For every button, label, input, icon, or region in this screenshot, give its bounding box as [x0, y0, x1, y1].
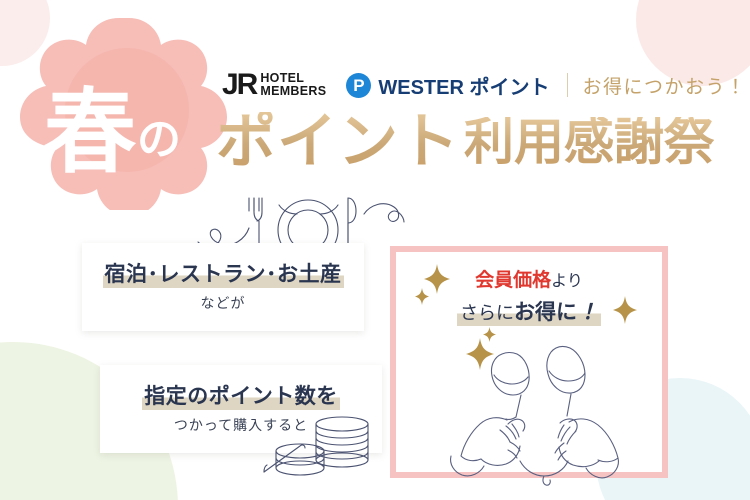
- panel-line-2-exclamation: ！: [577, 300, 598, 324]
- divider: [567, 73, 568, 97]
- wester-point-label: WESTER ポイント: [378, 71, 549, 100]
- member-price-highlight: 会員価格: [475, 269, 551, 291]
- member-price-suffix: より: [551, 271, 583, 290]
- page-title: ポイント 利用感謝祭: [216, 104, 750, 180]
- panel-line-1: 会員価格より: [396, 266, 662, 295]
- logo-row: JR HOTEL MEMBERS P WESTER ポイント お得につかおう！: [222, 64, 747, 106]
- panel-line-2-bold: お得に: [514, 300, 577, 324]
- tagline-text: お得につかおう！: [582, 72, 746, 99]
- panel-line-2: さらにお得に！: [457, 299, 601, 326]
- sakura-blossom-icon: [20, 10, 230, 210]
- member-price-panel: 会員価格より さらにお得に！: [390, 246, 668, 478]
- info-card-stay-restaurant: 宿泊･レストラン･お土産 などが: [82, 243, 364, 331]
- panel-text-block: 会員価格より さらにお得に！: [396, 266, 662, 326]
- point-badge-icon: P: [346, 73, 371, 98]
- jr-sub-wordmark: HOTEL MEMBERS: [260, 72, 326, 98]
- card-1-sub-text: などが: [201, 293, 246, 313]
- wester-point-logo: P WESTER ポイント: [346, 71, 549, 100]
- headline-main: ポイント: [216, 112, 460, 172]
- card-2-main-text: 指定のポイント数を: [142, 383, 340, 409]
- jr-sub-line2: MEMBERS: [260, 85, 326, 98]
- panel-line-2-thin: さらに: [460, 303, 514, 324]
- jr-hotel-members-logo: JR HOTEL MEMBERS: [222, 70, 326, 100]
- headline-sub: 利用感謝祭: [464, 117, 714, 167]
- promo-banner: 春 の JR HOTEL MEMBERS P WESTER ポイント お得につか…: [0, 0, 750, 500]
- info-card-points-usage: 指定のポイント数を つかって購入すると: [100, 365, 382, 453]
- jr-wordmark: JR: [222, 70, 256, 100]
- card-1-main-text: 宿泊･レストラン･お土産: [103, 261, 344, 287]
- card-2-sub-text: つかって購入すると: [174, 415, 308, 435]
